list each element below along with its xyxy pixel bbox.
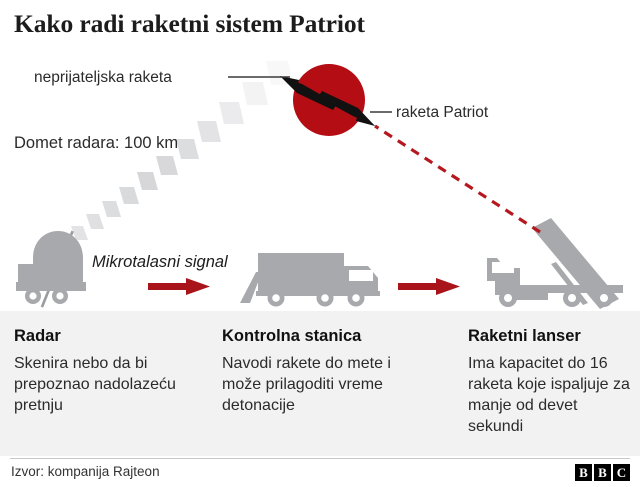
red-flow-arrow-icon	[398, 278, 460, 295]
component-body: Ima kapacitet do 16 raketa koje ispaljuj…	[468, 353, 636, 437]
diagram-illustration: neprijateljska raketa raketa Patriot Dom…	[0, 0, 640, 311]
label-microwave-signal: Mikrotalasni signal	[92, 253, 228, 273]
component-body: Navodi rakete do mete i može prilagoditi…	[222, 353, 434, 416]
infographic-page: Kako radi raketni sistem Patriot	[0, 0, 640, 487]
component-title: Radar	[14, 327, 210, 347]
label-radar-range: Domet radara: 100 km	[14, 134, 178, 154]
component-column-control-station: Kontrolna stanica Navodi rakete do mete …	[222, 327, 434, 416]
label-enemy-missile: neprijateljska raketa	[34, 69, 172, 88]
bbc-logo-letter: C	[613, 464, 630, 481]
component-body: Skenira nebo da bi prepoznao nadolazeću …	[14, 353, 210, 416]
microwave-signal-beam-icon	[57, 61, 293, 249]
component-column-radar: Radar Skenira nebo da bi prepoznao nadol…	[14, 327, 210, 416]
component-title: Kontrolna stanica	[222, 327, 434, 347]
red-flow-arrow-icon	[148, 278, 210, 295]
component-column-launcher: Raketni lanser Ima kapacitet do 16 raket…	[468, 327, 636, 437]
source-attribution: Izvor: kompanija Rajteon	[11, 464, 160, 479]
missile-launcher-truck-icon	[487, 218, 623, 309]
radar-truck-icon	[16, 231, 86, 308]
missile-trajectory-dashed-line-icon	[375, 126, 540, 232]
label-patriot-missile: raketa Patriot	[396, 104, 488, 123]
component-descriptions-panel: Radar Skenira nebo da bi prepoznao nadol…	[0, 311, 640, 456]
bbc-logo-letter: B	[575, 464, 592, 481]
component-title: Raketni lanser	[468, 327, 636, 347]
control-station-truck-icon	[240, 253, 380, 307]
bbc-logo: B B C	[575, 464, 630, 481]
bbc-logo-letter: B	[594, 464, 611, 481]
footer-divider	[10, 458, 630, 459]
